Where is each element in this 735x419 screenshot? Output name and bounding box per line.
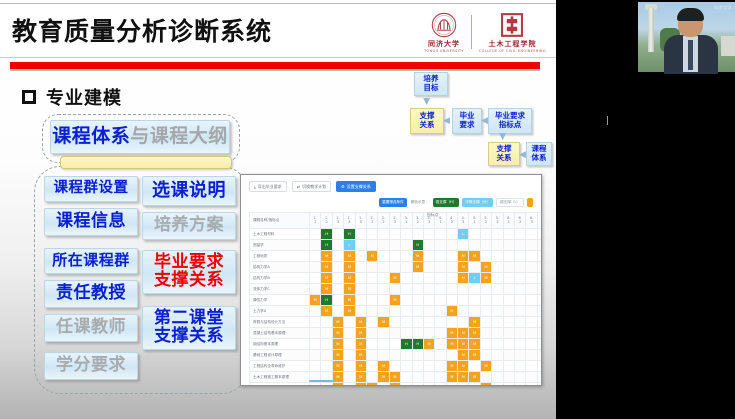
table-cell-support-level[interactable]: M [355, 339, 366, 350]
table-cell-support-level[interactable] [526, 273, 537, 284]
table-cell-support-level[interactable] [321, 328, 332, 339]
table-cell-support-level[interactable]: L [344, 240, 355, 251]
table-row[interactable]: 工程结构全寿命维护MMMMMM [250, 361, 543, 372]
table-cell-support-level[interactable] [526, 306, 537, 317]
table-cell-support-level[interactable]: M [355, 383, 366, 387]
table-cell-support-level[interactable]: M [389, 383, 400, 387]
table-cell-support-level[interactable] [526, 240, 537, 251]
table-cell-support-level[interactable] [480, 339, 491, 350]
table-cell-support-level[interactable] [423, 262, 434, 273]
table-cell-support-level[interactable] [446, 350, 457, 361]
edit-link[interactable] [541, 330, 542, 335]
table-cell-support-level[interactable]: M [458, 361, 469, 372]
table-cell-support-level[interactable] [412, 306, 423, 317]
table-cell-support-level[interactable]: M [469, 328, 480, 339]
table-cell-support-level[interactable] [355, 306, 366, 317]
table-cell-support-level[interactable]: M [423, 339, 434, 350]
table-cell-support-level[interactable] [389, 350, 400, 361]
legend-strong-support[interactable]: 强支撑（H） [433, 198, 460, 207]
table-cell-action[interactable] [537, 339, 542, 350]
table-cell-support-level[interactable]: H [321, 295, 332, 306]
edit-link[interactable] [541, 352, 542, 357]
table-cell-support-level[interactable] [310, 317, 321, 328]
table-cell-support-level[interactable] [321, 317, 332, 328]
table-cell-action[interactable] [537, 273, 542, 284]
edit-link[interactable] [541, 286, 542, 291]
table-cell-support-level[interactable] [526, 361, 537, 372]
table-cell-support-level[interactable] [469, 240, 480, 251]
table-cell-support-level[interactable] [401, 229, 412, 240]
table-cell-support-level[interactable] [401, 295, 412, 306]
set-support-relationship-button[interactable]: ⚙ 设置支撑关系 [336, 181, 376, 192]
table-cell-support-level[interactable] [446, 383, 457, 387]
table-cell-support-level[interactable] [492, 284, 503, 295]
table-cell-support-level[interactable] [423, 273, 434, 284]
table-cell-support-level[interactable]: M [332, 361, 343, 372]
table-cell-support-level[interactable] [446, 229, 457, 240]
table-cell-action[interactable] [537, 284, 542, 295]
table-cell-support-level[interactable] [389, 328, 400, 339]
table-cell-support-level[interactable] [435, 383, 446, 387]
table-cell-support-level[interactable] [423, 350, 434, 361]
table-cell-support-level[interactable] [355, 273, 366, 284]
table-cell-support-level[interactable]: M [446, 339, 457, 350]
table-cell-support-level[interactable] [435, 372, 446, 383]
table-cell-support-level[interactable] [310, 251, 321, 262]
table-cell-support-level[interactable] [526, 350, 537, 361]
table-cell-support-level[interactable]: M [332, 317, 343, 328]
table-cell-support-level[interactable] [344, 372, 355, 383]
table-cell-support-level[interactable]: M [446, 372, 457, 383]
table-cell-support-level[interactable] [446, 273, 457, 284]
table-cell-support-level[interactable]: H [412, 339, 423, 350]
table-cell-support-level[interactable] [503, 306, 514, 317]
table-cell-support-level[interactable] [389, 317, 400, 328]
table-cell-support-level[interactable] [458, 295, 469, 306]
table-cell-support-level[interactable] [526, 372, 537, 383]
table-cell-support-level[interactable]: M [344, 306, 355, 317]
table-cell-support-level[interactable] [389, 284, 400, 295]
table-cell-support-level[interactable]: H [321, 240, 332, 251]
table-cell-support-level[interactable] [310, 284, 321, 295]
table-cell-support-level[interactable] [480, 284, 491, 295]
table-cell-support-level[interactable] [423, 240, 434, 251]
table-cell-support-level[interactable]: M [344, 295, 355, 306]
table-cell-support-level[interactable]: M [446, 328, 457, 339]
table-cell-support-level[interactable] [515, 229, 526, 240]
table-cell-support-level[interactable] [378, 240, 389, 251]
table-cell-support-level[interactable]: M [480, 273, 491, 284]
table-cell-support-level[interactable] [423, 295, 434, 306]
edit-link[interactable] [541, 341, 542, 346]
export-graduation-requirement-button[interactable]: ⤓ 导出毕业要求 [249, 181, 287, 192]
table-cell-support-level[interactable]: M [344, 251, 355, 262]
table-cell-action[interactable] [537, 361, 542, 372]
table-cell-support-level[interactable]: M [355, 317, 366, 328]
table-cell-support-level[interactable] [355, 295, 366, 306]
table-cell-support-level[interactable] [435, 262, 446, 273]
table-cell-support-level[interactable] [480, 350, 491, 361]
table-cell-support-level[interactable] [480, 328, 491, 339]
table-row[interactable]: 流体力学CMM [250, 284, 543, 295]
edit-link[interactable] [541, 253, 542, 258]
table-cell-support-level[interactable] [321, 350, 332, 361]
table-cell-support-level[interactable]: M [321, 306, 332, 317]
table-cell-support-level[interactable] [412, 361, 423, 372]
table-cell-support-level[interactable] [344, 361, 355, 372]
table-row[interactable]: 基础工程设计原理MMMM [250, 350, 543, 361]
table-cell-support-level[interactable] [515, 328, 526, 339]
table-cell-support-level[interactable]: M [458, 262, 469, 273]
table-row[interactable]: 土木工程施工基本原理MMMMMMM [250, 372, 543, 383]
table-cell-support-level[interactable] [378, 350, 389, 361]
table-cell-support-level[interactable] [355, 240, 366, 251]
table-cell-support-level[interactable]: M [355, 372, 366, 383]
table-cell-support-level[interactable] [458, 240, 469, 251]
table-cell-support-level[interactable] [366, 273, 377, 284]
table-cell-support-level[interactable] [423, 383, 434, 387]
table-cell-support-level[interactable]: L [469, 273, 480, 284]
table-cell-support-level[interactable] [435, 339, 446, 350]
horizontal-scrollbar[interactable] [309, 380, 333, 382]
table-cell-support-level[interactable] [435, 251, 446, 262]
table-cell-support-level[interactable] [492, 240, 503, 251]
table-cell-support-level[interactable] [366, 284, 377, 295]
button-teaching-teacher[interactable]: 任课教师 [44, 314, 138, 342]
table-cell-support-level[interactable] [480, 295, 491, 306]
table-cell-support-level[interactable] [401, 262, 412, 273]
table-cell-support-level[interactable] [310, 240, 321, 251]
table-cell-support-level[interactable] [412, 383, 423, 387]
button-belonging-course-group[interactable]: 所在课程群 [44, 248, 138, 274]
table-cell-support-level[interactable] [332, 240, 343, 251]
table-cell-support-level[interactable] [412, 284, 423, 295]
edit-link[interactable] [541, 385, 542, 386]
button-second-classroom-support[interactable]: 第二课堂 支撑关系 [142, 306, 236, 350]
table-cell-support-level[interactable] [515, 273, 526, 284]
table-cell-support-level[interactable] [366, 361, 377, 372]
table-cell-support-level[interactable] [480, 317, 491, 328]
table-cell-support-level[interactable] [344, 350, 355, 361]
table-cell-support-level[interactable] [503, 295, 514, 306]
table-cell-support-level[interactable]: M [321, 262, 332, 273]
table-cell-support-level[interactable] [503, 229, 514, 240]
table-cell-support-level[interactable]: M [412, 262, 423, 273]
table-cell-support-level[interactable] [469, 361, 480, 372]
table-cell-support-level[interactable] [389, 240, 400, 251]
table-cell-support-level[interactable]: M [389, 273, 400, 284]
table-cell-support-level[interactable]: M [458, 273, 469, 284]
table-cell-support-level[interactable] [503, 350, 514, 361]
legend-other-support[interactable] [527, 198, 533, 207]
table-cell-support-level[interactable] [310, 273, 321, 284]
table-cell-support-level[interactable] [366, 372, 377, 383]
table-cell-support-level[interactable]: H [401, 339, 412, 350]
table-cell-support-level[interactable] [366, 262, 377, 273]
table-cell-support-level[interactable] [378, 339, 389, 350]
table-cell-support-level[interactable] [503, 383, 514, 387]
table-cell-support-level[interactable] [401, 350, 412, 361]
table-cell-support-level[interactable] [423, 229, 434, 240]
edit-link[interactable] [541, 231, 542, 236]
table-row[interactable]: 混凝土结构基本原理MMMMM [250, 328, 543, 339]
table-cell-support-level[interactable]: M [332, 328, 343, 339]
table-cell-support-level[interactable] [480, 240, 491, 251]
table-cell-support-level[interactable] [469, 262, 480, 273]
table-cell-support-level[interactable]: M [469, 317, 480, 328]
edit-link[interactable] [541, 297, 542, 302]
table-cell-support-level[interactable] [389, 339, 400, 350]
table-cell-support-level[interactable]: M [458, 350, 469, 361]
button-course-group-setting[interactable]: 课程群设置 [44, 176, 138, 202]
table-cell-support-level[interactable] [389, 361, 400, 372]
button-graduation-requirement-support[interactable]: 毕业要求 支撑关系 [142, 250, 236, 294]
table-cell-support-level[interactable]: M [469, 372, 480, 383]
table-cell-support-level[interactable] [423, 328, 434, 339]
table-row[interactable]: 荷载与结构设计方法MMMM [250, 317, 543, 328]
table-cell-support-level[interactable] [378, 229, 389, 240]
button-credit-requirement[interactable]: 学分要求 [44, 352, 138, 380]
table-row[interactable]: 工程造价MMMMM [250, 383, 543, 387]
table-cell-support-level[interactable] [480, 372, 491, 383]
table-cell-support-level[interactable] [412, 328, 423, 339]
table-cell-support-level[interactable]: H [412, 240, 423, 251]
table-cell-support-level[interactable] [435, 361, 446, 372]
table-row[interactable]: 土木工程材料HHL [250, 229, 543, 240]
table-cell-support-level[interactable] [458, 317, 469, 328]
table-cell-support-level[interactable]: M [480, 383, 491, 387]
table-cell-support-level[interactable]: M [469, 339, 480, 350]
button-course-system-outline[interactable]: 课程体系与课程大纲 [50, 120, 230, 154]
table-cell-support-level[interactable] [480, 306, 491, 317]
table-cell-support-level[interactable] [321, 339, 332, 350]
table-cell-support-level[interactable]: M [321, 251, 332, 262]
table-cell-support-level[interactable]: M [355, 328, 366, 339]
table-cell-support-level[interactable] [332, 284, 343, 295]
edit-link[interactable] [541, 363, 542, 368]
table-cell-support-level[interactable]: M [458, 372, 469, 383]
table-cell-support-level[interactable]: L [458, 229, 469, 240]
edit-link[interactable] [541, 264, 542, 269]
table-cell-support-level[interactable]: M [446, 361, 457, 372]
edit-link[interactable] [541, 374, 542, 379]
table-cell-support-level[interactable]: M [378, 372, 389, 383]
table-cell-support-level[interactable]: M [366, 383, 377, 387]
table-cell-support-level[interactable] [401, 361, 412, 372]
table-cell-support-level[interactable] [480, 229, 491, 240]
table-cell-support-level[interactable] [492, 328, 503, 339]
legend-weak-support[interactable]: 弱支撑（L） [496, 198, 524, 207]
table-cell-support-level[interactable] [435, 240, 446, 251]
table-cell-support-level[interactable] [401, 251, 412, 262]
table-cell-support-level[interactable] [423, 284, 434, 295]
table-cell-support-level[interactable] [401, 383, 412, 387]
table-cell-support-level[interactable] [401, 306, 412, 317]
table-cell-support-level[interactable]: M [469, 350, 480, 361]
table-cell-support-level[interactable] [492, 383, 503, 387]
table-cell-support-level[interactable] [526, 328, 537, 339]
table-row[interactable]: 钢结构基本原理MMHHMMMM [250, 339, 543, 350]
table-cell-support-level[interactable] [321, 361, 332, 372]
table-cell-support-level[interactable] [469, 306, 480, 317]
table-cell-support-level[interactable] [526, 251, 537, 262]
legend-medium-support[interactable]: 中等支撑（M） [462, 198, 493, 207]
table-cell-support-level[interactable] [412, 273, 423, 284]
table-row[interactable]: 土力学AMMM [250, 306, 543, 317]
table-cell-support-level[interactable] [492, 317, 503, 328]
table-cell-support-level[interactable]: M [469, 251, 480, 262]
table-cell-action[interactable] [537, 251, 542, 262]
table-cell-support-level[interactable] [515, 240, 526, 251]
table-cell-support-level[interactable] [503, 284, 514, 295]
table-row[interactable]: 结构力学BMMMMLM [250, 273, 543, 284]
table-cell-support-level[interactable] [458, 383, 469, 387]
table-cell-support-level[interactable] [378, 284, 389, 295]
table-cell-support-level[interactable]: M [332, 372, 343, 383]
table-cell-support-level[interactable] [446, 317, 457, 328]
button-course-info[interactable]: 课程信息 [44, 208, 138, 236]
table-cell-support-level[interactable] [526, 262, 537, 273]
table-cell-support-level[interactable] [310, 262, 321, 273]
table-cell-support-level[interactable]: M [332, 339, 343, 350]
table-cell-support-level[interactable] [515, 284, 526, 295]
table-cell-support-level[interactable] [492, 361, 503, 372]
table-cell-support-level[interactable] [515, 251, 526, 262]
table-cell-support-level[interactable] [435, 317, 446, 328]
table-cell-support-level[interactable] [310, 306, 321, 317]
table-cell-support-level[interactable] [423, 306, 434, 317]
table-row[interactable]: 工程地质MMMMMM [250, 251, 543, 262]
table-cell-support-level[interactable] [412, 372, 423, 383]
table-cell-support-level[interactable] [458, 306, 469, 317]
table-cell-support-level[interactable] [515, 372, 526, 383]
table-cell-support-level[interactable] [526, 284, 537, 295]
edit-link[interactable] [541, 242, 542, 247]
table-cell-support-level[interactable]: M [389, 372, 400, 383]
table-cell-support-level[interactable]: M [458, 328, 469, 339]
speaker-video-thumbnail[interactable]: 同济大学 [597, 0, 735, 74]
table-cell-support-level[interactable] [310, 383, 321, 387]
table-cell-support-level[interactable] [526, 295, 537, 306]
table-row[interactable]: 弹性力学MHMM [250, 295, 543, 306]
table-cell-support-level[interactable]: M [378, 317, 389, 328]
table-cell-support-level[interactable] [435, 350, 446, 361]
table-cell-support-level[interactable] [515, 361, 526, 372]
table-cell-support-level[interactable] [378, 306, 389, 317]
table-cell-support-level[interactable] [423, 317, 434, 328]
table-cell-support-level[interactable] [355, 229, 366, 240]
table-cell-support-level[interactable] [469, 383, 480, 387]
table-cell-support-level[interactable] [435, 328, 446, 339]
table-cell-support-level[interactable] [458, 284, 469, 295]
table-cell-support-level[interactable] [366, 295, 377, 306]
table-cell-support-level[interactable] [446, 251, 457, 262]
table-cell-support-level[interactable] [366, 306, 377, 317]
table-cell-support-level[interactable] [446, 284, 457, 295]
table-cell-support-level[interactable] [503, 339, 514, 350]
table-cell-support-level[interactable] [492, 273, 503, 284]
table-cell-support-level[interactable] [332, 306, 343, 317]
support-matrix-table-wrapper[interactable]: 指标点 课程名称/指标点1.11.21.31.41.52.12.22.33.13… [249, 212, 535, 380]
table-cell-support-level[interactable]: M [355, 350, 366, 361]
table-cell-support-level[interactable] [378, 295, 389, 306]
table-cell-support-level[interactable] [526, 383, 537, 387]
table-cell-support-level[interactable]: M [332, 383, 343, 387]
button-training-plan[interactable]: 培养方案 [142, 212, 236, 240]
table-cell-support-level[interactable] [378, 262, 389, 273]
table-cell-support-level[interactable] [503, 317, 514, 328]
table-cell-support-level[interactable] [310, 229, 321, 240]
table-cell-support-level[interactable] [412, 229, 423, 240]
table-cell-support-level[interactable] [401, 273, 412, 284]
table-cell-support-level[interactable]: M [458, 339, 469, 350]
table-cell-support-level[interactable]: M [446, 306, 457, 317]
table-cell-support-level[interactable] [332, 251, 343, 262]
button-course-selection-note[interactable]: 选课说明 [142, 176, 236, 206]
table-cell-support-level[interactable] [366, 317, 377, 328]
table-cell-support-level[interactable] [378, 251, 389, 262]
table-cell-support-level[interactable]: M [480, 361, 491, 372]
switch-teaching-plan-button[interactable]: ⇄ 切换教学计划 [292, 181, 331, 192]
table-cell-support-level[interactable] [503, 251, 514, 262]
table-cell-support-level[interactable] [344, 328, 355, 339]
table-cell-support-level[interactable]: M [321, 284, 332, 295]
reset-filter-button[interactable]: 重置筛选条件 [379, 198, 407, 207]
table-cell-support-level[interactable]: M [366, 251, 377, 262]
table-cell-support-level[interactable] [446, 240, 457, 251]
table-cell-support-level[interactable]: M [458, 251, 469, 262]
table-cell-support-level[interactable] [515, 339, 526, 350]
table-cell-support-level[interactable] [503, 328, 514, 339]
table-cell-action[interactable] [537, 229, 542, 240]
table-cell-support-level[interactable] [492, 372, 503, 383]
table-cell-support-level[interactable] [469, 284, 480, 295]
table-cell-support-level[interactable]: H [321, 229, 332, 240]
table-cell-support-level[interactable] [503, 361, 514, 372]
table-cell-support-level[interactable] [389, 262, 400, 273]
table-cell-support-level[interactable] [344, 383, 355, 387]
table-cell-support-level[interactable]: M [344, 262, 355, 273]
table-cell-support-level[interactable]: M [355, 361, 366, 372]
table-cell-support-level[interactable]: M [344, 273, 355, 284]
edit-link[interactable] [541, 319, 542, 324]
table-cell-support-level[interactable] [401, 317, 412, 328]
table-cell-support-level[interactable] [366, 339, 377, 350]
table-cell-support-level[interactable] [389, 251, 400, 262]
table-row[interactable]: 测量学HLH [250, 240, 543, 251]
table-row[interactable]: 结构力学AMMMMM [250, 262, 543, 273]
table-cell-support-level[interactable] [321, 383, 332, 387]
edit-link[interactable] [541, 275, 542, 280]
table-cell-support-level[interactable] [389, 306, 400, 317]
table-cell-support-level[interactable] [423, 361, 434, 372]
table-cell-support-level[interactable] [389, 229, 400, 240]
table-cell-support-level[interactable] [515, 383, 526, 387]
table-cell-support-level[interactable] [366, 240, 377, 251]
table-cell-support-level[interactable] [492, 339, 503, 350]
table-cell-support-level[interactable] [492, 306, 503, 317]
table-cell-support-level[interactable] [344, 339, 355, 350]
table-cell-support-level[interactable] [446, 295, 457, 306]
table-cell-support-level[interactable]: M [389, 295, 400, 306]
table-cell-support-level[interactable] [446, 262, 457, 273]
table-cell-action[interactable] [537, 350, 542, 361]
table-cell-support-level[interactable] [503, 262, 514, 273]
table-cell-action[interactable] [537, 372, 542, 383]
table-cell-support-level[interactable] [332, 262, 343, 273]
table-cell-support-level[interactable] [310, 328, 321, 339]
table-cell-action[interactable] [537, 328, 542, 339]
